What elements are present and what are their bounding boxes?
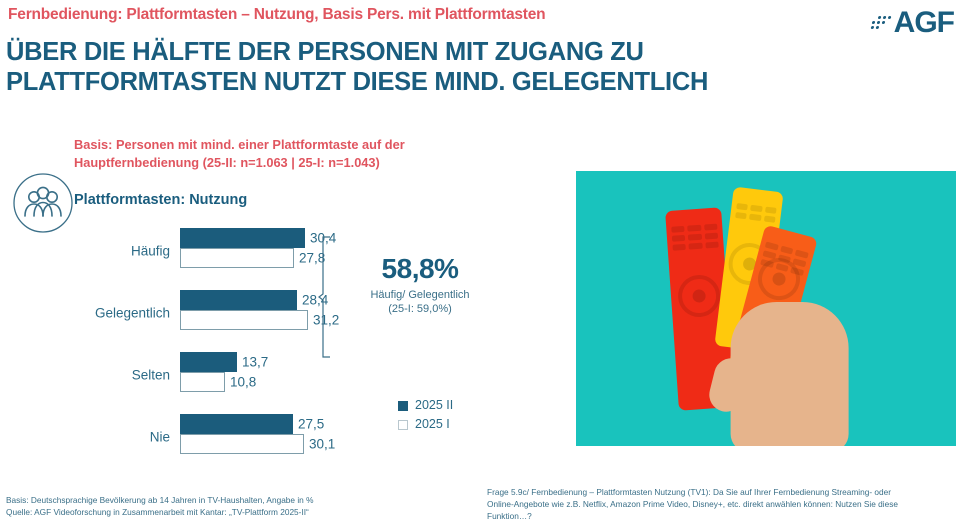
- bar-2025I-nie: 30,1: [180, 434, 304, 454]
- bar-value: 27,5: [298, 417, 324, 432]
- footer-source-left: Basis: Deutschsprachige Bevölkerung ab 1…: [6, 494, 436, 518]
- category-label: Selten: [60, 368, 170, 383]
- bar-2025II-selten: 13,7: [180, 352, 237, 372]
- photo-hand-holding-remotes: [575, 170, 957, 447]
- footer-quelle-line: Quelle: AGF Videoforschung in Zusammenar…: [6, 506, 436, 518]
- callout-label: Häufig/ Gelegentlich (25-I: 59,0%): [340, 288, 500, 317]
- bar-2025I-selten: 10,8: [180, 372, 225, 392]
- callout-compare-text: (25-I: 59,0%): [388, 303, 452, 315]
- bar-2025II-gelegentlich: 28,4: [180, 290, 297, 310]
- bar-value: 13,7: [242, 355, 268, 370]
- footer-basis-line: Basis: Deutschsprachige Bevölkerung ab 1…: [6, 494, 436, 506]
- footer-question-right: Frage 5.9c/ Fernbedienung – Plattformtas…: [487, 486, 917, 522]
- logo-dots-icon: [870, 16, 891, 29]
- legend-label: 2025 I: [415, 415, 450, 434]
- bar-2025I-haeufig: 27,8: [180, 248, 294, 268]
- basis-line-2: Hauptfernbedienung (25-II: n=1.063 | 25-…: [74, 154, 544, 172]
- slide-kicker: Fernbedienung: Plattformtasten – Nutzung…: [8, 6, 545, 24]
- chart-subheading: Plattformtasten: Nutzung: [74, 192, 247, 208]
- chart-legend: 2025 II 2025 I: [398, 396, 453, 435]
- agf-logo: AGF: [872, 8, 954, 38]
- category-label: Häufig: [60, 244, 170, 259]
- callout-label-text: Häufig/ Gelegentlich: [370, 289, 469, 301]
- callout-summary: 58,8% Häufig/ Gelegentlich (25-I: 59,0%): [340, 255, 500, 317]
- legend-item-2025-i[interactable]: 2025 I: [398, 415, 453, 434]
- people-icon: [12, 172, 74, 234]
- slide: Fernbedienung: Plattformtasten – Nutzung…: [0, 0, 970, 525]
- headline-line-1: ÜBER DIE HÄLFTE DER PERSONEN MIT ZUGANG …: [6, 38, 644, 66]
- legend-label: 2025 II: [415, 396, 453, 415]
- bar-2025II-haeufig: 30,4: [180, 228, 305, 248]
- group-bracket-icon: [318, 236, 334, 358]
- category-label: Nie: [60, 430, 170, 445]
- headline-line-2: PLATTFORMTASTEN NUTZT DIESE MIND. GELEGE…: [6, 68, 836, 98]
- bar-value: 10,8: [230, 375, 256, 390]
- bar-2025II-nie: 27,5: [180, 414, 293, 434]
- basis-note: Basis: Personen mit mind. einer Plattfor…: [74, 136, 544, 172]
- legend-item-2025-ii[interactable]: 2025 II: [398, 396, 453, 415]
- bar-value: 30,1: [309, 437, 335, 452]
- bar-2025I-gelegentlich: 31,2: [180, 310, 308, 330]
- category-label: Gelegentlich: [60, 306, 170, 321]
- page-title: ÜBER DIE HÄLFTE DER PERSONEN MIT ZUGANG …: [6, 38, 836, 98]
- basis-line-1: Basis: Personen mit mind. einer Plattfor…: [74, 136, 544, 154]
- legend-swatch-icon: [398, 420, 408, 430]
- legend-swatch-icon: [398, 401, 408, 411]
- callout-value: 58,8%: [340, 255, 500, 283]
- logo-text: AGF: [894, 8, 954, 38]
